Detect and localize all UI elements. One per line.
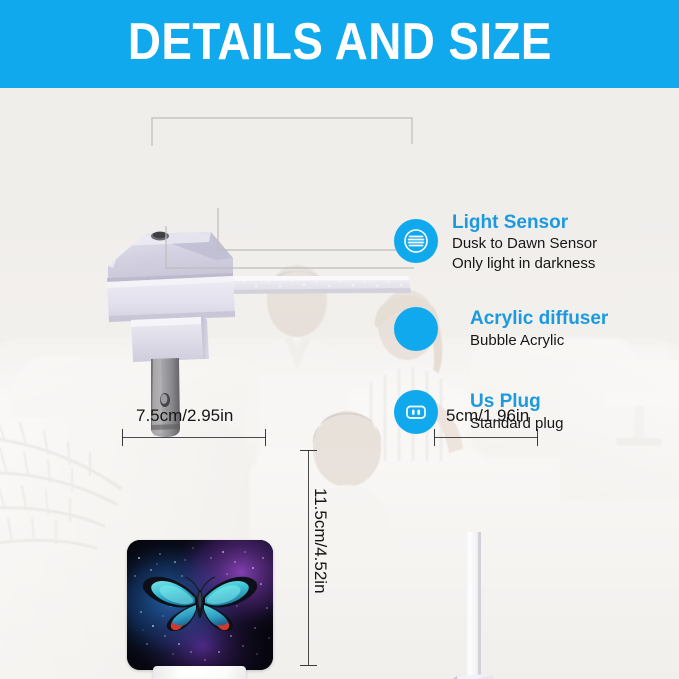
- us-plug-icon: [394, 390, 438, 434]
- light-sensor-icon: [394, 219, 438, 263]
- dimension-tick: [300, 450, 317, 451]
- callout-title: Acrylic diffuser: [470, 308, 608, 330]
- dimension-tick: [265, 429, 266, 446]
- galaxy-artwork: [127, 540, 273, 670]
- page-title: DETAILS AND SIZE: [128, 16, 552, 72]
- callout-light-sensor-text: Light Sensor Dusk to Dawn Sensor Only li…: [452, 212, 597, 273]
- dimension-tick: [537, 429, 538, 446]
- callout-subline: Only light in darkness: [452, 254, 597, 273]
- dimension-tick: [434, 429, 435, 446]
- product-scene: Light Sensor Dusk to Dawn Sensor Only li…: [0, 88, 679, 679]
- dimension-label-width: 7.5cm/2.95in: [136, 406, 233, 426]
- night-light-front-view: [127, 540, 273, 679]
- header-banner: DETAILS AND SIZE: [0, 0, 679, 88]
- callout-title: Light Sensor: [452, 212, 597, 234]
- acrylic-diffuser-icon: [394, 307, 438, 351]
- butterfly-faceplate: [127, 540, 273, 670]
- callout-subline: Dusk to Dawn Sensor: [452, 234, 597, 253]
- dimension-label-depth: 5cm/1.96in: [446, 406, 529, 426]
- dimension-line-depth: [434, 437, 538, 438]
- callout-light-sensor[interactable]: Light Sensor Dusk to Dawn Sensor Only li…: [394, 210, 597, 273]
- callout-acrylic-diffuser[interactable]: Acrylic diffuser Bubble Acrylic: [394, 307, 608, 351]
- dimension-tick: [122, 429, 123, 446]
- dimension-line-height: [308, 450, 309, 666]
- dimension-label-height: 11.5cm/4.52in: [310, 488, 330, 594]
- dimension-tick: [300, 665, 317, 666]
- product-side-view: [435, 526, 595, 679]
- leader-line-light-sensor: [150, 116, 415, 186]
- dimension-line-width: [122, 437, 266, 438]
- callout-subline: Bubble Acrylic: [470, 331, 608, 350]
- infographic-page: DETAILS AND SIZE: [0, 0, 679, 679]
- callout-acrylic-diffuser-text: Acrylic diffuser Bubble Acrylic: [452, 308, 608, 350]
- night-light-base: [153, 666, 246, 679]
- leader-line-us-plug: [164, 224, 416, 272]
